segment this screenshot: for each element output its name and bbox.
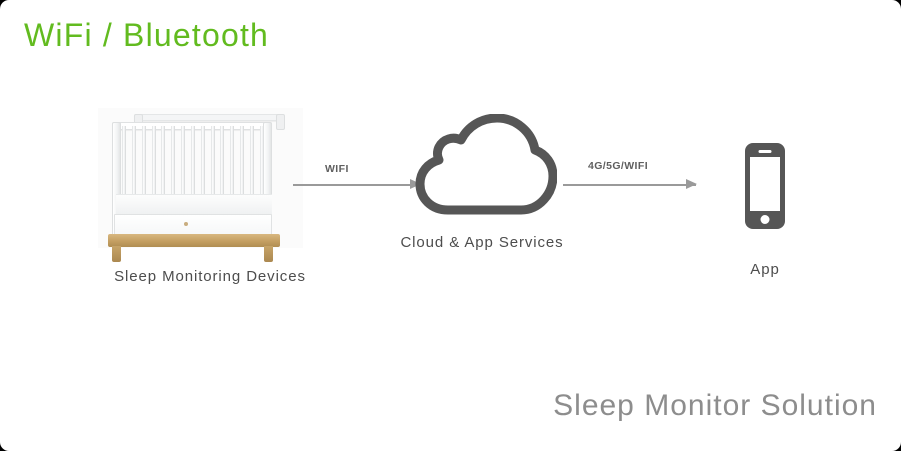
crib-lower-panel [114, 214, 272, 236]
phone-speaker [759, 150, 772, 153]
footer-title: Sleep Monitor Solution [553, 389, 877, 423]
arrow-label-wifi: WIFI [325, 163, 349, 175]
sleep-monitoring-device-icon [98, 108, 303, 248]
page-title: WiFi / Bluetooth [24, 17, 269, 54]
arrow-line [563, 184, 696, 186]
caption-cloud-app-services: Cloud & App Services [366, 234, 598, 251]
crib-wooden-base [108, 234, 280, 247]
smartphone-icon [745, 143, 785, 229]
crib-leg-right [264, 246, 273, 262]
caption-app: App [710, 261, 820, 278]
arrow-cloud-to-app [563, 175, 696, 195]
crib-back-rail [134, 114, 284, 121]
phone-screen [750, 157, 780, 211]
slide-canvas: WiFi / Bluetooth Sleep Monitoring Device… [0, 0, 901, 451]
arrow-device-to-cloud [293, 175, 420, 195]
caption-sleep-monitoring-devices: Sleep Monitoring Devices [92, 268, 328, 285]
crib-photo [98, 108, 303, 248]
crib-mattress [116, 194, 272, 216]
arrow-head-icon [686, 179, 697, 189]
crib-knob [184, 222, 188, 226]
cloud-icon [415, 114, 557, 216]
arrow-line [293, 184, 420, 186]
phone-home-button-icon [761, 215, 770, 224]
crib-back-post-right [276, 114, 285, 130]
arrow-label-4g-5g-wifi: 4G/5G/WIFI [588, 160, 648, 172]
crib-leg-left [112, 246, 121, 262]
